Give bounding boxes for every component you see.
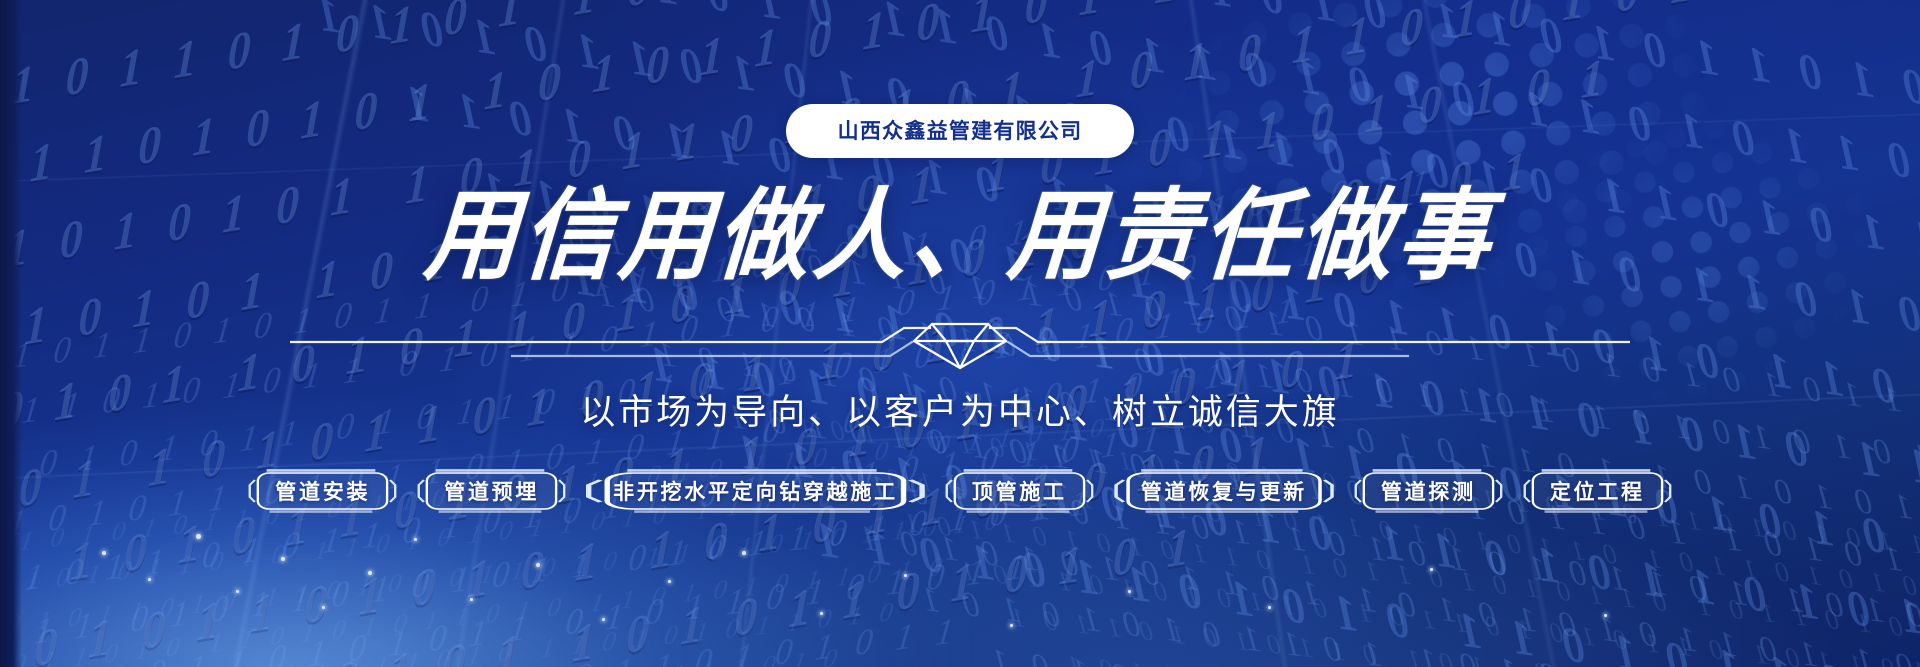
service-tag-pipeline-embedding[interactable]: 管道预埋 [418,469,565,513]
company-badge-label: 山西众鑫益管建有限公司 [838,119,1083,143]
divider-with-gem [290,320,1630,370]
hero-banner: 1 0 1 0 1 1 0 1 0 1 0 1 1 0 1 0 1 1 0 1 … [0,0,1920,667]
service-tag-label: 顶管施工 [972,476,1067,506]
service-tag-list: 管道安装 管道预埋 [249,469,1670,513]
divider-graphic [290,320,1630,370]
service-tag-label: 管道预埋 [444,476,539,506]
service-tag-hdd-crossing[interactable]: 非开挖水平定向钻穿越施工 [587,469,924,513]
service-tag-pipeline-installation[interactable]: 管道安装 [249,469,396,513]
service-tag-label: 定位工程 [1550,476,1645,506]
service-tag-pipe-jacking[interactable]: 顶管施工 [946,469,1093,513]
headline-slogan: 用信用做人、用责任做事 [422,180,1499,291]
service-tag-pipeline-detection[interactable]: 管道探测 [1355,469,1502,513]
diamond-gem-icon [914,324,1006,368]
service-tag-label: 管道安装 [275,476,370,506]
service-tag-label: 管道恢复与更新 [1141,476,1307,506]
company-badge: 山西众鑫益管建有限公司 [786,104,1135,158]
service-tag-positioning-engineering[interactable]: 定位工程 [1524,469,1671,513]
service-tag-label: 管道探测 [1381,476,1476,506]
service-tag-pipeline-rehabilitation[interactable]: 管道恢复与更新 [1115,469,1333,513]
banner-content: 山西众鑫益管建有限公司 用信用做人、用责任做事 以市场为导向、以客户为 [0,0,1920,667]
subtitle-slogan: 以市场为导向、以客户为中心、树立诚信大旗 [580,384,1340,435]
service-tag-label: 非开挖水平定向钻穿越施工 [613,476,898,506]
